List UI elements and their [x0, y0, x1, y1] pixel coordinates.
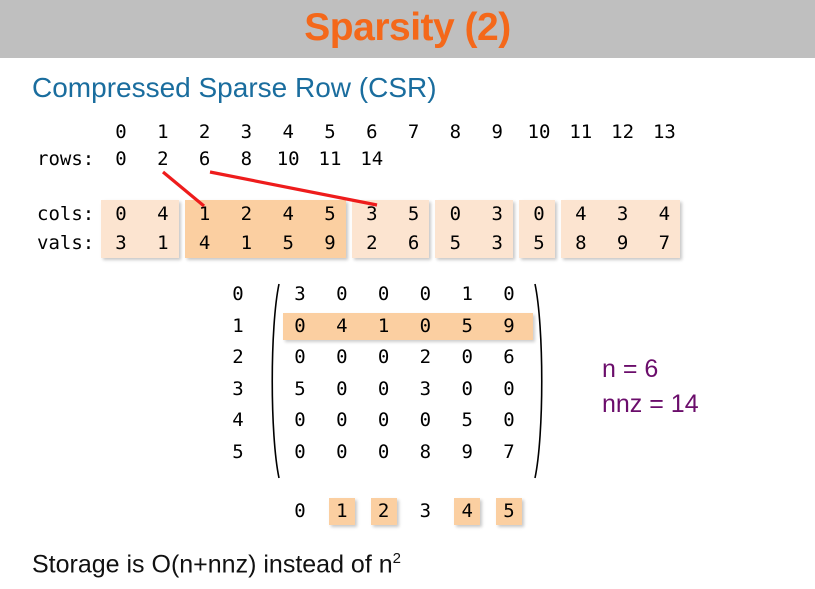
matrix-column-label: 3: [412, 498, 438, 525]
matrix-cell: 9: [454, 441, 480, 463]
matrix-row-label: 3: [225, 378, 251, 400]
matrix-column-label-highlighted: 5: [496, 498, 522, 525]
matrix-cell: 1: [371, 315, 397, 337]
array-index-cell: 13: [651, 121, 677, 143]
array-cols-cell: 1: [192, 203, 218, 225]
matrix-cell: 9: [496, 315, 522, 337]
matrix-column-label-highlighted: 4: [454, 498, 480, 525]
array-rows-label: rows:: [37, 148, 103, 170]
array-cols-cell: 0: [526, 203, 552, 225]
array-rows-cell: 6: [192, 148, 218, 170]
array-vals-cell: 1: [233, 232, 259, 254]
matrix-cell: 0: [454, 378, 480, 400]
array-index-cell: 8: [442, 121, 468, 143]
array-index-cell: 3: [233, 121, 259, 143]
matrix-column-label: 0: [287, 498, 313, 525]
array-cols-cell: 0: [108, 203, 134, 225]
matrix-row-label: 5: [225, 441, 251, 463]
matrix-cell: 0: [371, 283, 397, 305]
matrix-cell: 0: [329, 378, 355, 400]
array-cols-cell: 4: [275, 203, 301, 225]
matrix-cell: 0: [287, 441, 313, 463]
matrix-cell: 0: [329, 441, 355, 463]
array-vals-cell: 5: [275, 232, 301, 254]
matrix-cell: 5: [287, 378, 313, 400]
array-rows-cell: 10: [275, 148, 301, 170]
array-index-cell: 2: [192, 121, 218, 143]
array-index-cell: 6: [359, 121, 385, 143]
array-vals-cell: 2: [359, 232, 385, 254]
array-rows-cell: 11: [317, 148, 343, 170]
array-cols-cell: 0: [442, 203, 468, 225]
array-cols-cell: 2: [233, 203, 259, 225]
sparse-matrix: 0300010104105920002063500300400005050008…: [225, 282, 565, 487]
matrix-cell: 0: [412, 283, 438, 305]
array-cols-cell: 4: [568, 203, 594, 225]
array-cols-cell: 5: [401, 203, 427, 225]
array-index-cell: 10: [526, 121, 552, 143]
matrix-right-bracket-icon: [533, 282, 549, 480]
matrix-row-label: 0: [225, 283, 251, 305]
array-index-cell: 4: [275, 121, 301, 143]
matrix-cell: 0: [412, 315, 438, 337]
matrix-cell: 3: [412, 378, 438, 400]
array-vals-cell: 1: [150, 232, 176, 254]
matrix-cell: 6: [496, 346, 522, 368]
array-vals-cell: 3: [108, 232, 134, 254]
array-index-cell: 0: [108, 121, 134, 143]
array-cols-cell: 5: [317, 203, 343, 225]
matrix-cell: 0: [371, 409, 397, 431]
section-heading: Compressed Sparse Row (CSR): [32, 72, 437, 104]
array-rows-cell: 8: [233, 148, 259, 170]
matrix-row-label: 4: [225, 409, 251, 431]
array-index-cell: 11: [568, 121, 594, 143]
matrix-cell: 0: [496, 283, 522, 305]
matrix-cell: 2: [412, 346, 438, 368]
matrix-cell: 3: [287, 283, 313, 305]
array-cols-cell: 4: [651, 203, 677, 225]
matrix-cell: 0: [371, 346, 397, 368]
array-vals-cell: 6: [401, 232, 427, 254]
array-vals-label: vals:: [37, 232, 103, 254]
matrix-cell: 5: [454, 315, 480, 337]
matrix-cell: 0: [371, 441, 397, 463]
array-index-cell: 7: [401, 121, 427, 143]
array-vals-cell: 8: [568, 232, 594, 254]
array-cols-cell: 3: [484, 203, 510, 225]
array-index-cell: 12: [610, 121, 636, 143]
array-index-cell: 1: [150, 121, 176, 143]
array-vals-cell: 9: [317, 232, 343, 254]
matrix-stats: n = 6 nnz = 14: [602, 352, 699, 422]
matrix-cell: 0: [412, 409, 438, 431]
stat-nnz: nnz = 14: [602, 387, 699, 422]
matrix-left-bracket-icon: [265, 282, 281, 480]
matrix-cell: 0: [329, 283, 355, 305]
matrix-cell: 0: [329, 346, 355, 368]
matrix-cell: 1: [454, 283, 480, 305]
matrix-cell: 0: [287, 315, 313, 337]
footer-note: Storage is O(n+nnz) instead of n2: [32, 550, 401, 579]
array-vals-cell: 7: [651, 232, 677, 254]
matrix-row-label: 1: [225, 315, 251, 337]
matrix-cell: 4: [329, 315, 355, 337]
matrix-column-label-highlighted: 1: [329, 498, 355, 525]
array-rows-cell: 14: [359, 148, 385, 170]
array-rows-cell: 2: [150, 148, 176, 170]
matrix-row-label: 2: [225, 346, 251, 368]
matrix-cell: 7: [496, 441, 522, 463]
array-index-cell: 5: [317, 121, 343, 143]
array-cols-cell: 4: [150, 203, 176, 225]
matrix-cell: 8: [412, 441, 438, 463]
matrix-cell: 0: [287, 409, 313, 431]
array-rows-cell: 0: [108, 148, 134, 170]
page-title: Sparsity (2): [0, 0, 815, 56]
matrix-cell: 0: [496, 378, 522, 400]
matrix-column-labels: 012345: [225, 498, 565, 528]
footer-note-exponent: 2: [393, 550, 401, 567]
array-vals-cell: 5: [526, 232, 552, 254]
array-cols-label: cols:: [37, 203, 103, 225]
array-vals-cell: 5: [442, 232, 468, 254]
matrix-cell: 0: [496, 409, 522, 431]
array-index-cell: 9: [484, 121, 510, 143]
matrix-cell: 0: [287, 346, 313, 368]
footer-note-text: Storage is O(n+nnz) instead of n: [32, 550, 393, 578]
array-vals-cell: 9: [610, 232, 636, 254]
matrix-column-label-highlighted: 2: [371, 498, 397, 525]
stat-n: n = 6: [602, 352, 699, 387]
array-cols-cell: 3: [359, 203, 385, 225]
array-cols-cell: 3: [610, 203, 636, 225]
matrix-cell: 0: [454, 346, 480, 368]
matrix-cell: 0: [329, 409, 355, 431]
array-vals-cell: 4: [192, 232, 218, 254]
matrix-cell: 0: [371, 378, 397, 400]
matrix-cell: 5: [454, 409, 480, 431]
array-vals-cell: 3: [484, 232, 510, 254]
